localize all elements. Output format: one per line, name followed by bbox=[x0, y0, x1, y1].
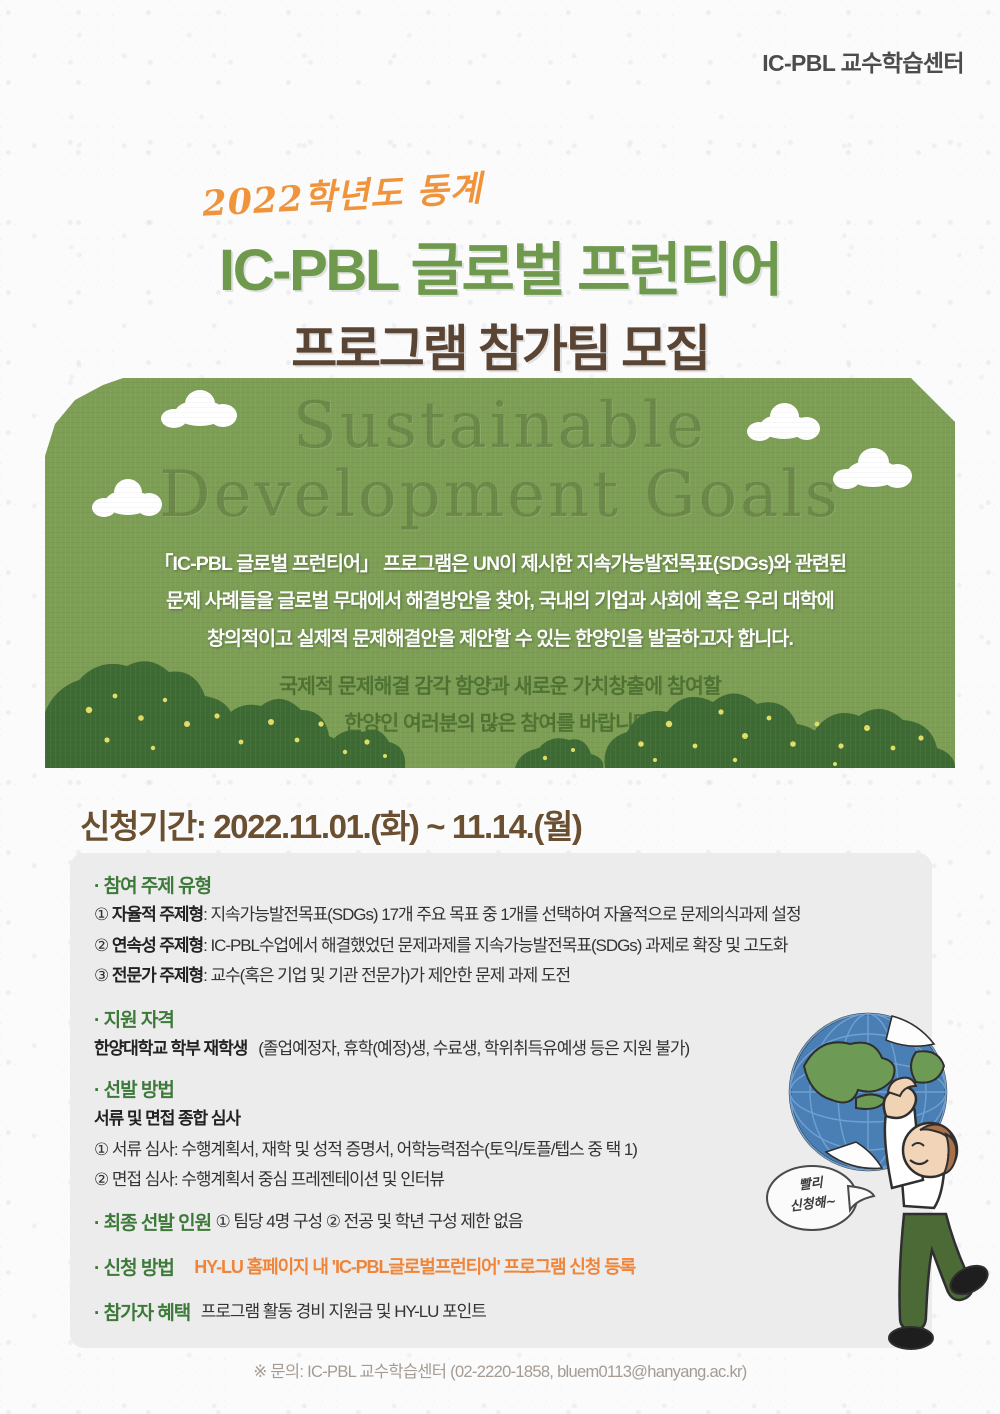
topic-item-3: ③ 전문가 주제형: 교수(혹은 기업 및 기관 전문가)가 제안한 문제 과제… bbox=[94, 962, 801, 990]
title-sub-line: 프로그램 참가팀 모집 bbox=[0, 309, 1000, 381]
topic-item-3-num: ③ bbox=[94, 966, 108, 985]
topic-item-3-text: : 교수(혹은 기업 및 기관 전문가)가 제안한 문제 과제 도전 bbox=[203, 966, 570, 985]
topic-item-2-num: ② bbox=[94, 936, 108, 955]
section-apply-heading: · 신청 방법 bbox=[94, 1253, 174, 1280]
foliage-decoration bbox=[45, 648, 955, 768]
topic-item-1-text: : 지속가능발전목표(SDGs) 17개 주요 목표 중 1개를 선택하여 자율… bbox=[203, 905, 800, 924]
section-topic-types: · 참여 주제 유형 ① 자율적 주제형: 지속가능발전목표(SDGs) 17개… bbox=[94, 871, 801, 990]
topic-item-3-label: 전문가 주제형 bbox=[112, 966, 203, 985]
sdg-watermark-line-2: Development Goals bbox=[45, 461, 955, 530]
topic-item-2-label: 연속성 주제형 bbox=[112, 936, 203, 955]
banner-paragraph-1: 「IC-PBL 글로벌 프런티어」 프로그램은 UN이 제시한 지속가능발전목표… bbox=[45, 546, 955, 658]
cloud-icon bbox=[175, 400, 225, 426]
banner-p1-line-1: 「IC-PBL 글로벌 프런티어」 프로그램은 UN이 제시한 지속가능발전목표… bbox=[45, 546, 955, 583]
eligibility-line: 한양대학교 학부 재학생 (졸업예정자, 휴학(예정)생, 수료생, 학위취득유… bbox=[94, 1035, 689, 1063]
section-apply-method: · 신청 방법 HY-LU 홈페이지 내 'IC-PBL글로벌프런티어' 프로그… bbox=[94, 1253, 635, 1282]
benefit-text: 프로그램 활동 경비 지원금 및 HY-LU 포인트 bbox=[201, 1298, 486, 1326]
eligibility-main: 한양대학교 학부 재학생 bbox=[94, 1039, 247, 1058]
selection-item-1: ① 서류 심사: 수행계획서, 재학 및 성적 증명서, 어학능력점수(토익/토… bbox=[94, 1136, 637, 1164]
headcount-text: ① 팀당 4명 구성 ② 전공 및 학년 구성 제한 없음 bbox=[216, 1208, 523, 1236]
topic-item-2: ② 연속성 주제형: IC-PBL수업에서 해결했었던 문제과제를 지속가능발전… bbox=[94, 932, 801, 960]
cloud-icon bbox=[105, 490, 151, 515]
section-selection-heading: · 선발 방법 bbox=[94, 1075, 637, 1102]
section-eligibility-heading: · 지원 자격 bbox=[94, 1005, 689, 1032]
selection-subtitle: 서류 및 면접 종합 심사 bbox=[94, 1105, 637, 1133]
section-selection: · 선발 방법 서류 및 면접 종합 심사 ① 서류 심사: 수행계획서, 재학… bbox=[94, 1075, 637, 1194]
selection-item-2: ② 면접 심사: 수행계획서 중심 프레젠테이션 및 인터뷰 bbox=[94, 1166, 637, 1194]
topic-item-1-label: 자율적 주제형 bbox=[112, 905, 203, 924]
eligibility-note: (졸업예정자, 휴학(예정)생, 수료생, 학위취득유예생 등은 지원 불가) bbox=[258, 1039, 689, 1058]
section-headcount-heading: · 최종 선발 인원 bbox=[94, 1208, 211, 1235]
center-name-header: IC-PBL 교수학습센터 bbox=[762, 44, 964, 78]
poster-title-block: 2022학년도 동계 IC-PBL 글로벌 프런티어 프로그램 참가팀 모집 bbox=[0, 168, 1000, 381]
topic-item-1: ① 자율적 주제형: 지속가능발전목표(SDGs) 17개 주요 목표 중 1개… bbox=[94, 901, 801, 929]
topic-item-2-text: : IC-PBL수업에서 해결했었던 문제과제를 지속가능발전목표(SDGs) … bbox=[203, 936, 787, 955]
banner-p1-line-2: 문제 사례들을 글로벌 무대에서 해결방안을 찾아, 국내의 기업과 사회에 혹… bbox=[45, 583, 955, 620]
cloud-icon bbox=[847, 460, 899, 487]
section-eligibility: · 지원 자격 한양대학교 학부 재학생 (졸업예정자, 휴학(예정)생, 수료… bbox=[94, 1005, 689, 1063]
application-period-heading: 신청기간: 2022.11.01.(화) ~ 11.14.(월) bbox=[80, 800, 582, 848]
section-topic-heading: · 참여 주제 유형 bbox=[94, 871, 801, 898]
title-main-line: IC-PBL 글로벌 프런티어 bbox=[0, 223, 1000, 307]
section-headcount: · 최종 선발 인원 ① 팀당 4명 구성 ② 전공 및 학년 구성 제한 없음 bbox=[94, 1208, 522, 1236]
footer-contact: ※ 문의: IC-PBL 교수학습센터 (02-2220-1858, bluem… bbox=[0, 1358, 1000, 1382]
cloud-icon bbox=[760, 414, 808, 439]
title-script-line: 2022학년도 동계 bbox=[201, 160, 484, 227]
section-benefit: · 참가자 혜택 프로그램 활동 경비 지원금 및 HY-LU 포인트 bbox=[94, 1298, 486, 1326]
section-benefit-heading: · 참가자 혜택 bbox=[94, 1298, 190, 1325]
sdg-banner: Sustainable Development Goals 「IC-PBL 글로… bbox=[45, 378, 955, 768]
apply-method-text: HY-LU 홈페이지 내 'IC-PBL글로벌프런티어' 프로그램 신청 등록 bbox=[194, 1253, 635, 1282]
topic-item-1-num: ① bbox=[94, 905, 108, 924]
